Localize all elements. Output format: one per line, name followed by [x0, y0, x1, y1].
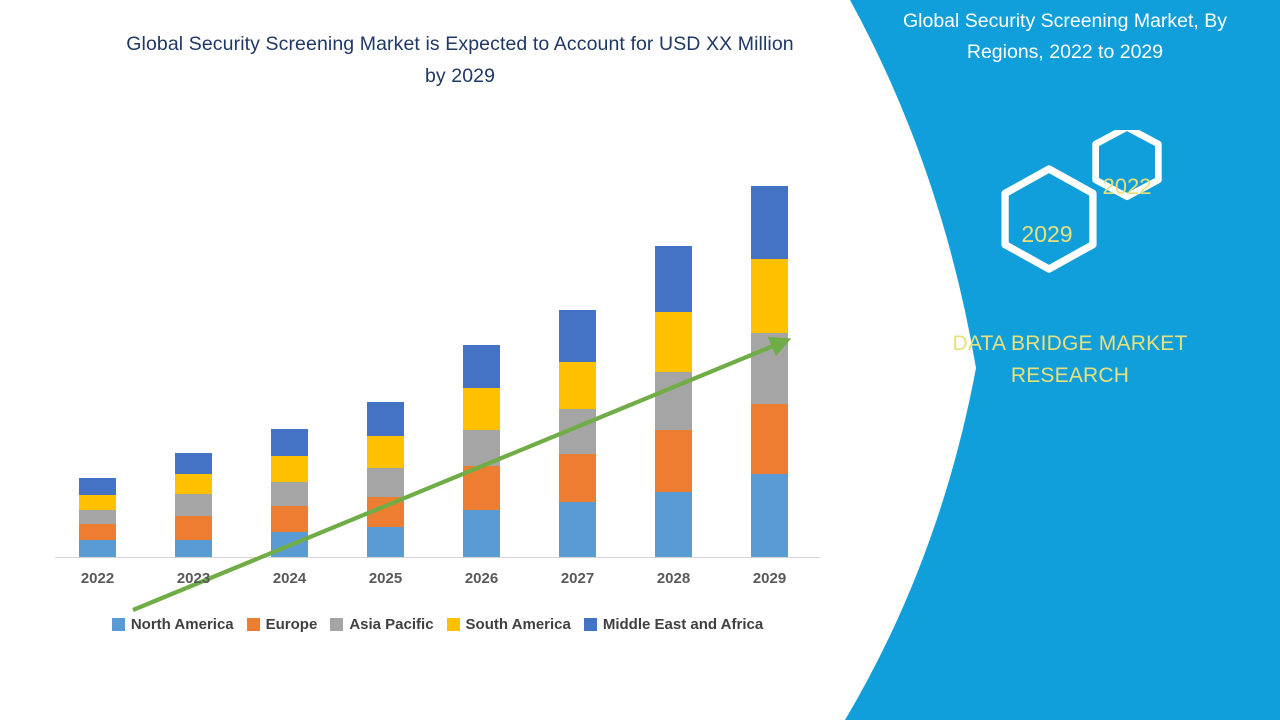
bar-segment: [79, 478, 116, 495]
bar-column-2029: [751, 186, 788, 557]
bar-segment: [79, 495, 116, 510]
x-axis-label-2027: 2027: [530, 570, 626, 587]
bar-segment: [79, 524, 116, 540]
hexagon-label-2022: 2022: [1081, 174, 1173, 200]
bar-segment: [655, 372, 692, 430]
bar-segment: [751, 186, 788, 259]
legend-swatch-icon: [330, 618, 343, 631]
bar-segment: [271, 532, 308, 557]
hexagon-badges: 2029 2022: [975, 130, 1205, 295]
bar-segment: [463, 345, 500, 388]
bar-segment: [79, 540, 116, 557]
bar-column-2024: [271, 429, 308, 557]
brand-name: DATA BRIDGE MARKET RESEARCH: [900, 328, 1240, 392]
bar-segment: [271, 482, 308, 506]
hexagon-label-2029: 2029: [999, 221, 1095, 248]
bar-segment: [271, 456, 308, 482]
x-axis-label-2022: 2022: [50, 570, 146, 587]
x-axis-label-2025: 2025: [338, 570, 434, 587]
x-axis-label-2023: 2023: [146, 570, 242, 587]
bar-segment: [175, 494, 212, 516]
panel-title: Global Security Screening Market, By Reg…: [865, 6, 1265, 68]
bar-segment: [175, 453, 212, 474]
bar-segment: [559, 454, 596, 502]
bar-segment: [655, 246, 692, 312]
x-axis-line: [55, 557, 820, 558]
bar-segment: [271, 429, 308, 456]
legend-item[interactable]: North America: [112, 616, 234, 633]
page-title: Global Security Screening Market is Expe…: [120, 28, 800, 92]
legend-item[interactable]: Europe: [247, 616, 318, 633]
bar-segment: [463, 510, 500, 557]
legend-label: South America: [466, 616, 571, 633]
hexagon-outline-icon: [975, 130, 1205, 295]
bar-segment: [559, 502, 596, 557]
bar-column-2027: [559, 310, 596, 557]
legend-label: Asia Pacific: [349, 616, 433, 633]
bar-segment: [175, 516, 212, 540]
brand-panel: Global Security Screening Market, By Reg…: [820, 0, 1280, 720]
legend-label: North America: [131, 616, 234, 633]
bar-segment: [559, 362, 596, 409]
bar-segment: [559, 310, 596, 362]
bar-segment: [79, 510, 116, 524]
legend-label: Europe: [266, 616, 318, 633]
bar-segment: [655, 492, 692, 557]
chart-plot-area: 20222023202420252026202720282029: [55, 150, 820, 558]
legend-swatch-icon: [112, 618, 125, 631]
legend-swatch-icon: [447, 618, 460, 631]
x-axis-label-2024: 2024: [242, 570, 338, 587]
bar-segment: [463, 388, 500, 430]
legend-label: Middle East and Africa: [603, 616, 763, 633]
bar-segment: [751, 404, 788, 474]
legend-item[interactable]: Middle East and Africa: [584, 616, 763, 633]
bar-segment: [367, 468, 404, 497]
bar-column-2026: [463, 345, 500, 557]
x-axis-label-2028: 2028: [626, 570, 722, 587]
x-axis-label-2026: 2026: [434, 570, 530, 587]
legend-item[interactable]: South America: [447, 616, 571, 633]
bar-segment: [655, 430, 692, 492]
legend-swatch-icon: [584, 618, 597, 631]
bar-segment: [751, 259, 788, 333]
legend-swatch-icon: [247, 618, 260, 631]
bar-segment: [175, 540, 212, 557]
infographic-root: Global Security Screening Market is Expe…: [0, 0, 1280, 720]
bar-segment: [367, 402, 404, 436]
bar-segment: [367, 527, 404, 557]
bar-segment: [367, 497, 404, 527]
x-axis-label-2029: 2029: [722, 570, 818, 587]
bar-column-2022: [79, 478, 116, 557]
bar-column-2025: [367, 402, 404, 557]
bar-segment: [463, 430, 500, 466]
bar-segment: [367, 436, 404, 468]
bar-segment: [463, 466, 500, 510]
bar-segment: [175, 474, 212, 494]
legend-item[interactable]: Asia Pacific: [330, 616, 433, 633]
bar-segment: [559, 409, 596, 454]
bar-segment: [751, 333, 788, 404]
bar-column-2028: [655, 246, 692, 557]
bar-segment: [751, 474, 788, 557]
bar-column-2023: [175, 453, 212, 557]
bar-segment: [655, 312, 692, 372]
bar-segment: [271, 506, 308, 532]
chart-legend: North AmericaEuropeAsia PacificSouth Ame…: [55, 616, 820, 633]
